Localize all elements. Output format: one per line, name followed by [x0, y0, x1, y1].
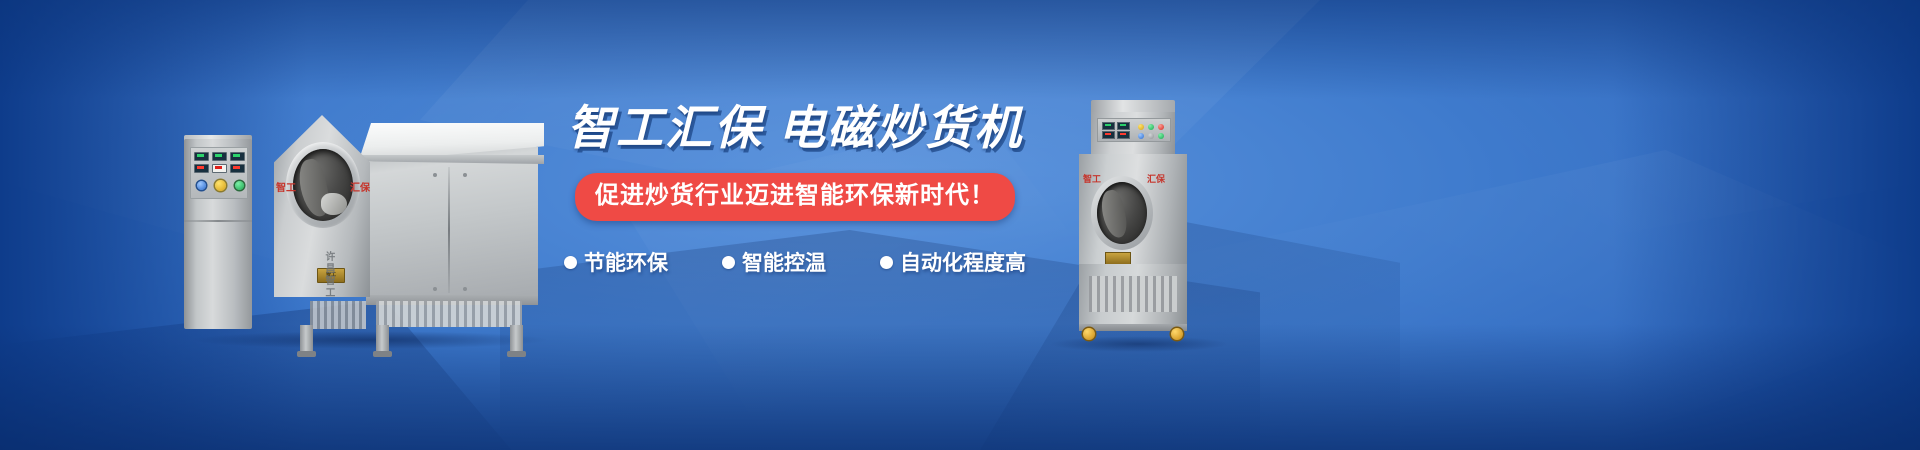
machine-right-drum-blade — [1098, 188, 1129, 240]
banner-subtitle-badge: 促进炒货行业迈进智能环保新时代！ — [575, 173, 1015, 221]
machine-left-leg — [300, 325, 313, 353]
machine-left-leg — [376, 325, 389, 353]
banner-title: 智工汇保 电磁炒货机 — [560, 104, 1030, 151]
machine-left-foot — [297, 351, 316, 357]
banner-text-block: 智工汇保 电磁炒货机 促进炒货行业迈进智能环保新时代！ 节能环保 智能控温 自动… — [560, 104, 1030, 277]
machine-left-drum-opening — [293, 149, 353, 221]
display-led-3 — [1102, 131, 1115, 139]
machine-left-cabinet-seam — [184, 220, 252, 222]
banner-feature-list: 节能环保 智能控温 自动化程度高 — [560, 247, 1030, 277]
machine-left-control-panel — [190, 147, 248, 199]
machine-left-lower-vent — [310, 301, 366, 329]
display-led-5 — [212, 164, 227, 173]
feature-item-automation: 自动化程度高 — [880, 247, 1026, 277]
caster-wheel — [1171, 328, 1183, 340]
start-button-green[interactable] — [235, 181, 244, 190]
machine-left-hinge — [433, 173, 437, 177]
machine-right-shadow — [1049, 336, 1229, 352]
machine-left-drum-blade — [321, 193, 347, 215]
roaster-machine-left: 智工 汇保 智工 许昌智工 — [180, 95, 560, 345]
display-led-2 — [1117, 122, 1130, 130]
machine-left-leg — [510, 325, 523, 353]
feature-item-smart-temperature: 智能控温 — [722, 247, 826, 277]
bullet-dot-icon — [880, 256, 893, 269]
machine-left-hinge — [463, 173, 467, 177]
machine-right-drum-opening — [1097, 182, 1147, 244]
display-led-4 — [194, 164, 209, 173]
bullet-dot-icon — [564, 256, 577, 269]
stop-button-red[interactable] — [1158, 124, 1164, 130]
display-led-1 — [194, 152, 209, 161]
selector-switch-blue[interactable] — [197, 181, 206, 190]
machine-left-hinge — [463, 287, 467, 291]
machine-right-vent-grille — [1089, 276, 1177, 312]
display-led-6 — [230, 164, 245, 173]
bullet-dot-icon — [722, 256, 735, 269]
start-button-green[interactable] — [1148, 124, 1154, 130]
machine-left-brand-huibao: 汇保 — [350, 179, 370, 194]
machine-left-foot — [373, 351, 392, 357]
display-led-4 — [1117, 131, 1130, 139]
indicator-green — [1158, 133, 1164, 139]
promo-banner: 智工 汇保 智工 许昌智工 — [0, 0, 1920, 450]
display-led-2 — [212, 152, 227, 161]
machine-right-base-rail — [1079, 324, 1187, 331]
feature-label: 节能环保 — [584, 247, 668, 277]
feature-item-energy-saving: 节能环保 — [564, 247, 668, 277]
machine-right-brand-zhigong: 智工 — [1083, 172, 1101, 185]
display-led-3 — [230, 152, 245, 161]
knob-grey[interactable] — [1148, 133, 1154, 139]
display-led-1 — [1102, 122, 1115, 130]
machine-left-foot — [507, 351, 526, 357]
caster-wheel — [1083, 328, 1095, 340]
machine-left-vent-grille — [376, 301, 522, 327]
machine-left-cabinet-label: 许昌智工 — [320, 251, 334, 299]
machine-left-body — [366, 147, 538, 297]
machine-right-control-panel — [1097, 118, 1171, 142]
machine-left-shadow — [190, 331, 550, 349]
emergency-stop-knob[interactable] — [215, 180, 226, 191]
roaster-machine-right: 智工 汇保 — [1035, 100, 1235, 350]
machine-left-brand-zhigong: 智工 — [276, 179, 296, 194]
machine-right-brand-huibao: 汇保 — [1147, 172, 1165, 185]
machine-left-door-seam — [448, 167, 450, 293]
feature-label: 自动化程度高 — [900, 247, 1026, 277]
mode-switch-blue[interactable] — [1138, 133, 1144, 139]
machine-left-hinge — [433, 287, 437, 291]
banner-badge-wrap: 促进炒货行业迈进智能环保新时代！ — [560, 173, 1030, 221]
feature-label: 智能控温 — [742, 247, 826, 277]
selector-switch-yellow[interactable] — [1138, 124, 1144, 130]
